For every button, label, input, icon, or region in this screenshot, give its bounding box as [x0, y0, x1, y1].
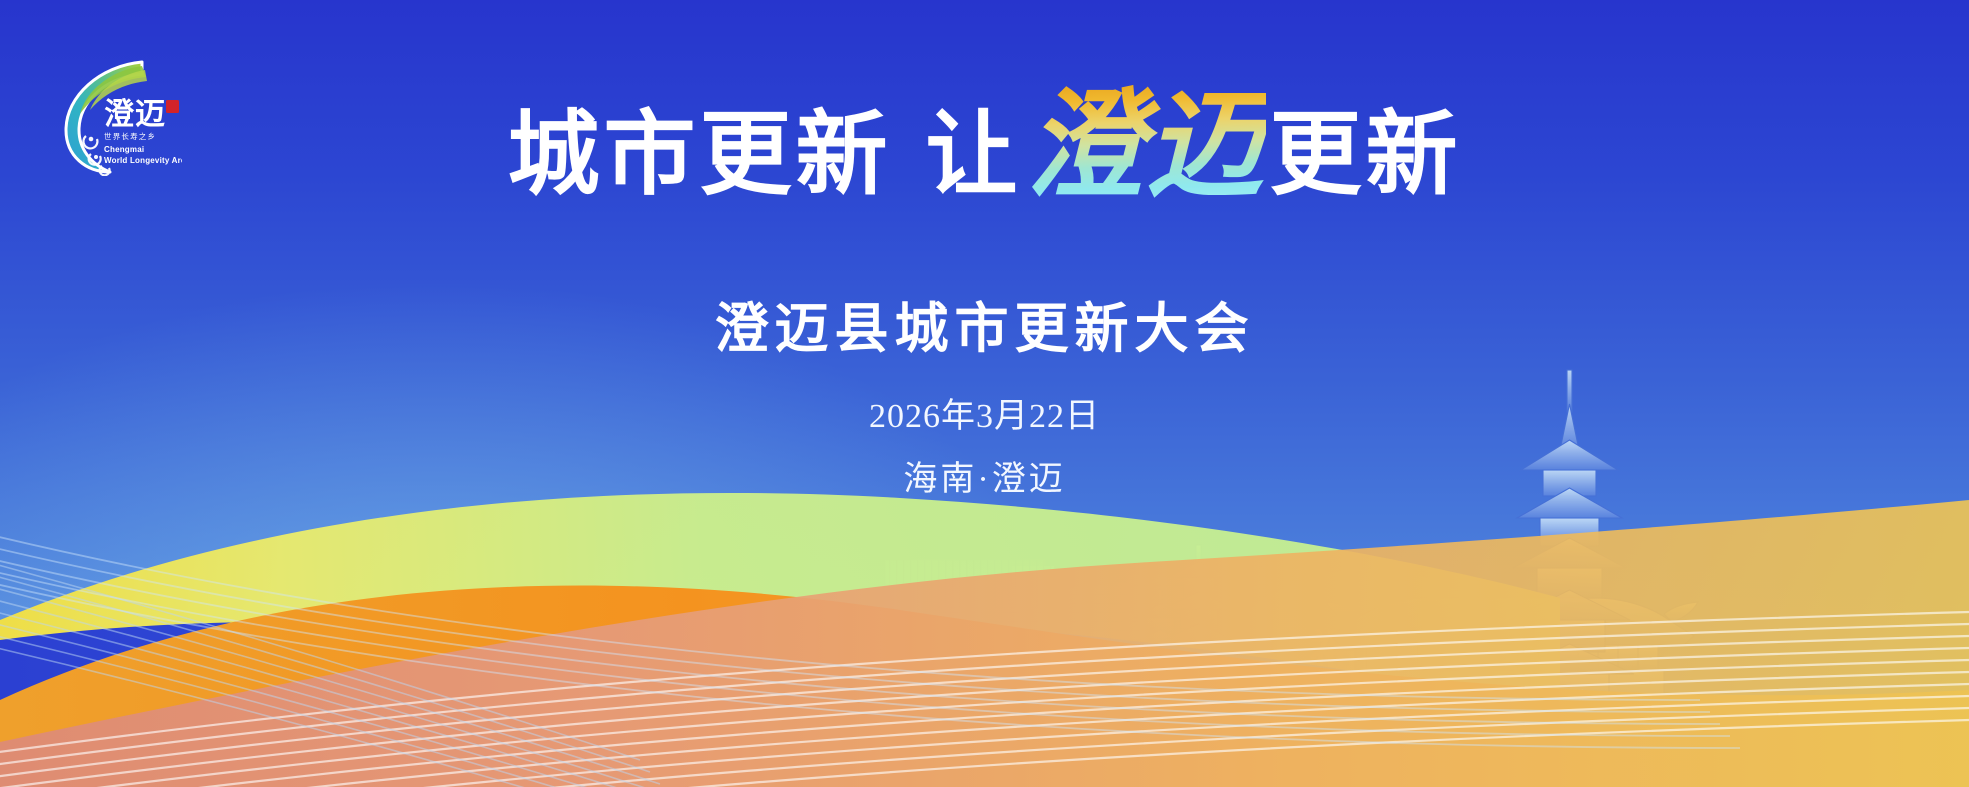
headline-part2: 让	[925, 104, 1021, 206]
page-subtitle: 澄迈县城市更新大会	[0, 284, 1969, 363]
event-meta: 2026年3月22日 海南·澄迈	[0, 388, 1969, 500]
headline-part3: 更新	[1270, 104, 1462, 206]
headline-part1: 城市更新	[507, 104, 891, 206]
event-place: 海南·澄迈	[0, 451, 1969, 500]
event-date: 2026年3月22日	[0, 388, 1969, 437]
poster-canvas: 福山 FUSHAN COFFEE 咖啡 永庆寺	[0, 0, 1969, 787]
headline-script-chengmai: 澄迈	[1026, 81, 1266, 212]
headline: 城市更新 让 澄迈 更新	[0, 96, 1969, 214]
